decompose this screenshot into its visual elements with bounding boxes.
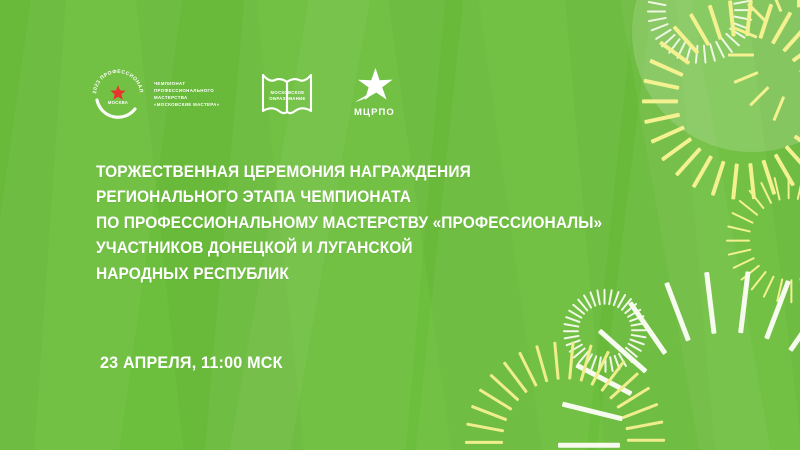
burst-small-white [559,284,651,376]
lockup-line-4: «МОСКОВСКИЕ МАСТЕРА» [154,101,219,108]
moscow-masters-badge: 2023 ПРОФЕССИОНАЛЫ МОСКВА [88,64,148,124]
mcrpo-logo: МЦРПО [343,66,405,122]
badge-center-text: МОСКВА [88,100,148,105]
headline-line-2: РЕГИОНАЛЬНОГО ЭТАПА ЧЕМПИОНАТА [96,185,602,210]
burst-corner-br [724,0,800,128]
event-datetime: 23 АПРЕЛЯ, 11:00 МСК [100,353,283,373]
star-comet-icon [351,66,397,106]
burst-large-white [554,264,800,450]
moscow-education-logo: МОСКОВСКОЕ ОБРАЗОВАНИЕ [259,71,315,117]
burst-top-white [643,0,757,67]
badge-ring: 2023 ПРОФЕССИОНАЛЫ [88,64,148,124]
lockup-line-1: ЧЕМПИОНАТ [154,80,219,87]
slide-canvas: 2023 ПРОФЕССИОНАЛЫ МОСКВА ЧЕМПИОНАТ ПРОФ… [0,0,800,450]
logo-bar: 2023 ПРОФЕССИОНАЛЫ МОСКВА ЧЕМПИОНАТ ПРОФ… [88,63,405,125]
moscow-education-text: МОСКОВСКОЕ ОБРАЗОВАНИЕ [259,90,315,103]
burst-right-mid [722,170,800,306]
headline-line-5: НАРОДНЫХ РЕСПУБЛИК [96,262,602,287]
education-line-2: ОБРАЗОВАНИЕ [259,96,315,102]
headline-block: ТОРЖЕСТВЕННАЯ ЦЕРЕМОНИЯ НАГРАЖДЕНИЯ РЕГИ… [96,160,632,287]
burst-yellow-bl [461,336,669,450]
moscow-masters-lockup-text: ЧЕМПИОНАТ ПРОФЕССИОНАЛЬНОГО МАСТЕРСТВА «… [154,80,219,109]
decorative-circle [632,0,800,152]
lockup-line-3: МАСТЕРСТВА [154,94,219,101]
mcrpo-label: МЦРПО [343,107,405,118]
burst-top-yellow [638,0,800,202]
headline-line-1: ТОРЖЕСТВЕННАЯ ЦЕРЕМОНИЯ НАГРАЖДЕНИЯ [96,160,602,185]
headline-line-3: ПО ПРОФЕССИОНАЛЬНОМУ МАСТЕРСТВУ «ПРОФЕСС… [96,211,602,236]
lockup-line-2: ПРОФЕССИОНАЛЬНОГО [154,87,219,94]
headline-line-4: УЧАСТНИКОВ ДОНЕЦКОЙ И ЛУГАНСКОЙ [96,236,602,261]
svg-text:2023 ПРОФЕССИОНАЛЫ: 2023 ПРОФЕССИОНАЛЫ [88,64,144,94]
